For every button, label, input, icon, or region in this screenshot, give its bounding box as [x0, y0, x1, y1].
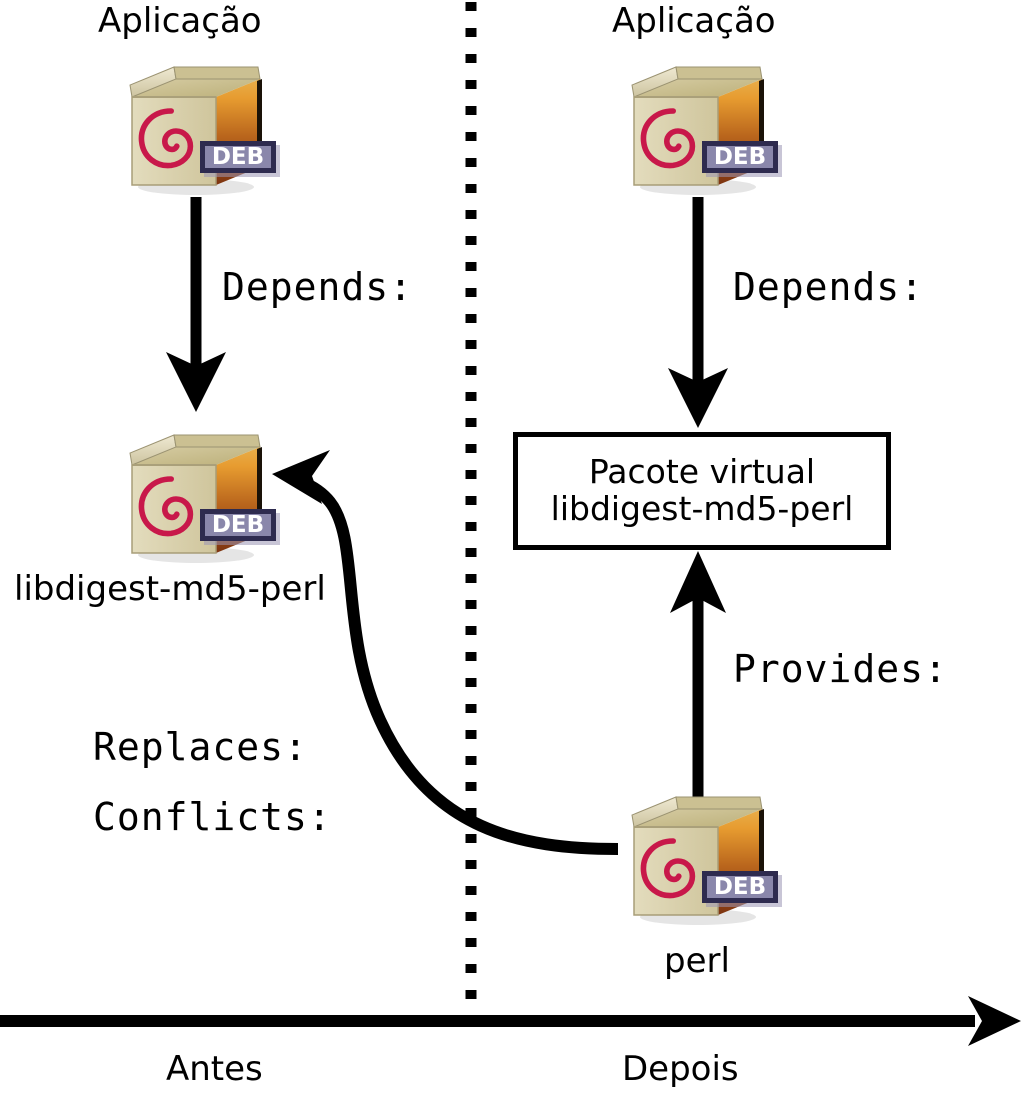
title-aplicacao-left: Aplicação [98, 4, 262, 38]
timeline-label-depois: Depois [622, 1052, 739, 1086]
virtual-package-line2: libdigest-md5-perl [551, 491, 854, 528]
diagram-canvas: DEB [0, 0, 1024, 1094]
package-label-libdigest: libdigest-md5-perl [14, 572, 326, 606]
virtual-package-box: Pacote virtual libdigest-md5-perl [513, 432, 891, 550]
arrow-depends-right [668, 197, 728, 428]
relation-provides: Provides: [733, 650, 948, 688]
timeline-label-antes: Antes [166, 1052, 263, 1086]
package-icon-app-left [130, 67, 280, 195]
timeline-axis [0, 996, 1021, 1046]
arrow-provides [670, 551, 726, 800]
package-icon-libdigest [130, 435, 280, 563]
arrow-depends-left [166, 197, 226, 412]
package-icon-perl [632, 797, 782, 925]
package-icon-app-right [632, 67, 782, 195]
package-label-perl: perl [664, 944, 730, 978]
relation-conflicts: Conflicts: [93, 798, 332, 836]
relation-replaces: Replaces: [93, 728, 308, 766]
virtual-package-line1: Pacote virtual [589, 454, 815, 491]
relation-depends-right: Depends: [733, 268, 924, 306]
relation-depends-left: Depends: [222, 268, 413, 306]
title-aplicacao-right: Aplicação [612, 4, 776, 38]
